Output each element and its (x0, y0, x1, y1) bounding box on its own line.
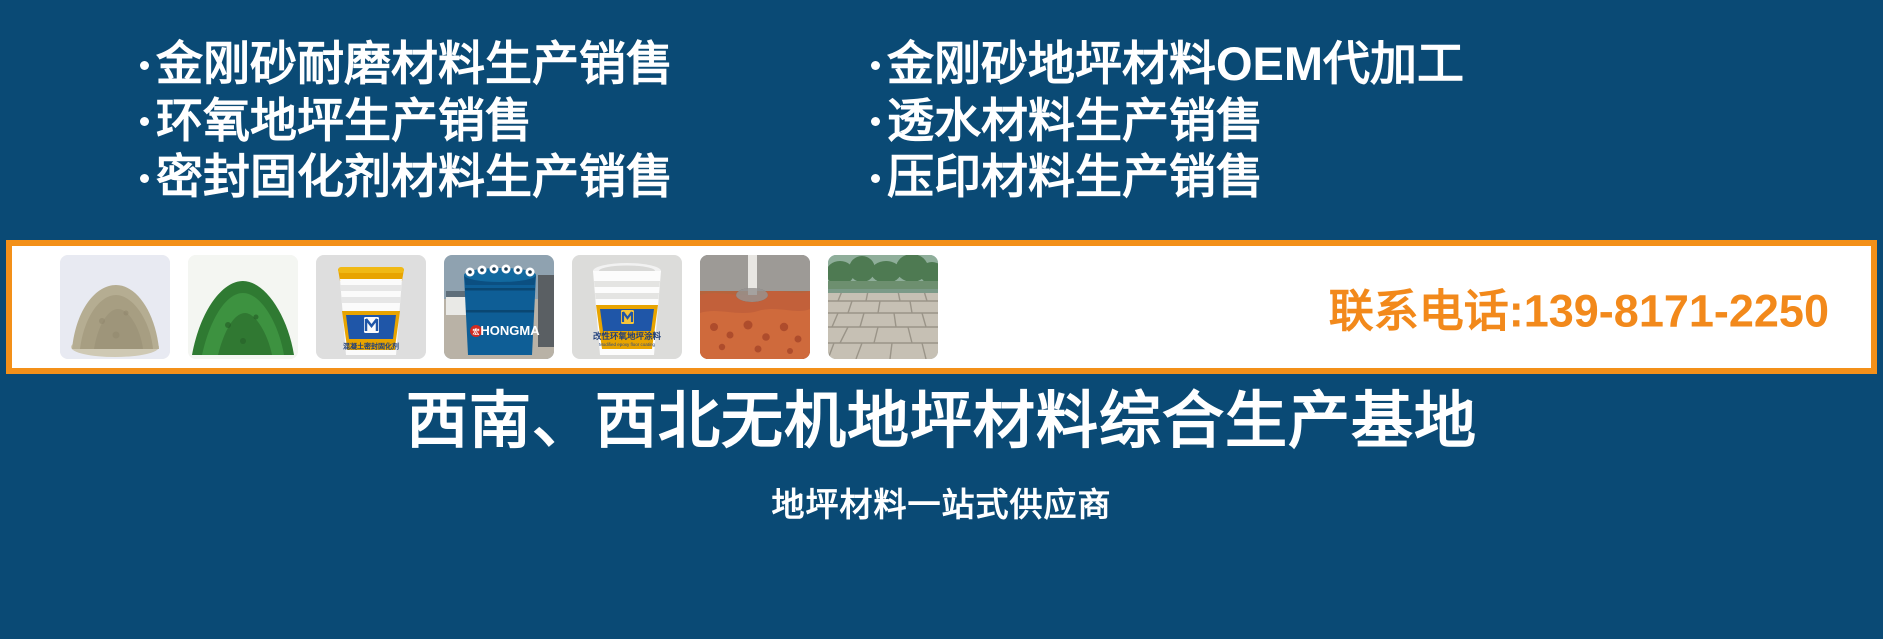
product-thumbnail-epoxy-coating-bucket[interactable]: 改性环氧地坪涂料 Modified epoxy floor coating (572, 255, 682, 359)
contact-phone[interactable]: 联系电话:139-8171-2250 (1329, 275, 1829, 340)
bullet-dot-icon (140, 117, 149, 126)
advertising-banner: 金刚砂耐磨材料生产销售 环氧地坪生产销售 密封固化剂材料生产销售 金刚砂地坪材料… (0, 0, 1883, 639)
stamped-concrete-path-icon (828, 255, 938, 359)
bullet-dot-icon (140, 61, 149, 70)
product-thumbnail-green-abrasive-powder[interactable] (188, 255, 298, 359)
feature-label: 环氧地坪生产销售 (156, 94, 532, 149)
product-thumbnail-sealer-bucket[interactable]: 混凝土密封固化剂 (316, 255, 426, 359)
bullet-dot-icon (140, 174, 149, 183)
svg-text:Modified epoxy floor coating: Modified epoxy floor coating (599, 342, 656, 347)
feature-column-right: 金刚砂地坪材料OEM代加工 透水材料生产销售 压印材料生产销售 (855, 29, 1883, 207)
feature-item: 金刚砂地坪材料OEM代加工 (871, 37, 1883, 92)
svg-text:宏: 宏 (473, 327, 480, 336)
bullet-dot-icon (871, 61, 880, 70)
feature-item: 金刚砂耐磨材料生产销售 (140, 37, 855, 92)
svg-text:混凝土密封固化剂: 混凝土密封固化剂 (343, 342, 399, 351)
feature-label: 密封固化剂材料生产销售 (156, 150, 673, 205)
feature-item: 压印材料生产销售 (871, 150, 1883, 205)
feature-item: 透水材料生产销售 (871, 94, 1883, 149)
product-strip: 混凝土密封固化剂 (6, 240, 1877, 374)
red-permeable-pavement-icon (700, 255, 810, 359)
product-thumbnail-hongma-drum[interactable]: 宏 HONGMA (444, 255, 554, 359)
product-strip-inner: 混凝土密封固化剂 (12, 246, 1871, 368)
epoxy-coating-bucket-icon: 改性环氧地坪涂料 Modified epoxy floor coating (572, 255, 682, 359)
svg-text:HONGMA: HONGMA (480, 323, 540, 338)
bullet-dot-icon (871, 174, 880, 183)
feature-item: 环氧地坪生产销售 (140, 94, 855, 149)
feature-label: 压印材料生产销售 (887, 150, 1263, 205)
feature-label: 透水材料生产销售 (887, 94, 1263, 149)
product-thumbnail-stamped-concrete-path[interactable] (828, 255, 938, 359)
main-headline: 西南、西北无机地坪材料综合生产基地 (406, 388, 1477, 456)
feature-label: 金刚砂耐磨材料生产销售 (156, 37, 673, 92)
green-abrasive-powder-icon (188, 255, 298, 359)
bottom-headline-block: 西南、西北无机地坪材料综合生产基地 地坪材料一站式供应商 (0, 378, 1883, 639)
feature-column-left: 金刚砂耐磨材料生产销售 环氧地坪生产销售 密封固化剂材料生产销售 (0, 29, 855, 207)
grey-abrasive-powder-icon (60, 255, 170, 359)
feature-lists: 金刚砂耐磨材料生产销售 环氧地坪生产销售 密封固化剂材料生产销售 金刚砂地坪材料… (0, 0, 1883, 236)
svg-text:改性环氧地坪涂料: 改性环氧地坪涂料 (593, 331, 662, 342)
feature-label: 金刚砂地坪材料OEM代加工 (887, 37, 1464, 92)
bullet-dot-icon (871, 117, 880, 126)
hongma-blue-drum-icon: 宏 HONGMA (444, 255, 554, 359)
product-thumbnail-permeable-pavement[interactable] (700, 255, 810, 359)
sealer-bucket-icon: 混凝土密封固化剂 (316, 255, 426, 359)
sub-headline: 地坪材料一站式供应商 (772, 478, 1112, 526)
feature-item: 密封固化剂材料生产销售 (140, 150, 855, 205)
product-thumbnail-grey-abrasive-powder[interactable] (60, 255, 170, 359)
